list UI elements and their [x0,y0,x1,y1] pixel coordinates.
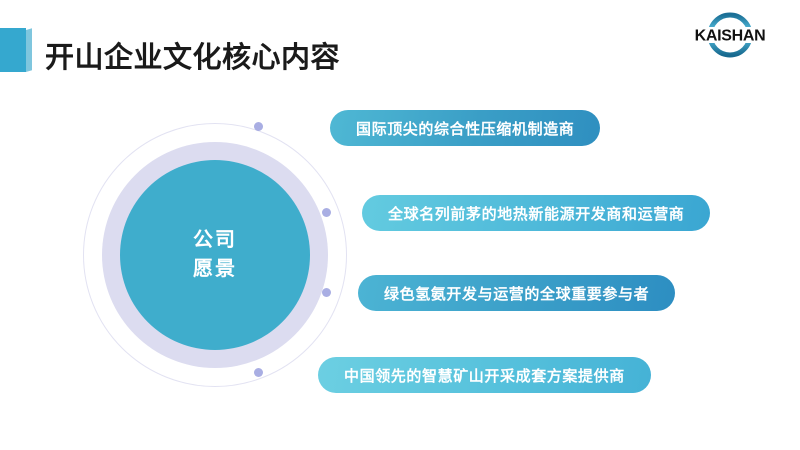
slide-canvas: 开山企业文化核心内容 KAISHAN 公司 愿景 [0,0,800,450]
vision-core-circle: 公司 愿景 [120,160,310,350]
vision-pill-2[interactable]: 全球名列前茅的地热新能源开发商和运营商 [362,195,710,231]
page-title: 开山企业文化核心内容 [45,34,340,76]
kaishan-wordmark: KAISHAN [695,28,766,45]
vision-label-line-2: 愿景 [193,255,237,284]
vision-pill-1[interactable]: 国际顶尖的综合性压缩机制造商 [330,110,600,146]
vision-pill-3[interactable]: 绿色氢氨开发与运营的全球重要参与者 [358,275,675,311]
bookmark-marker-icon [0,28,26,72]
connector-dot-3 [322,288,331,297]
kaishan-logo: KAISHAN [678,8,782,66]
connector-dot-4 [254,368,263,377]
vision-label-line-1: 公司 [193,226,237,255]
kaishan-logo-mark: KAISHAN [678,8,782,66]
vision-circle-group: 公司 愿景 [83,123,349,389]
connector-dot-1 [254,122,263,131]
vision-pill-4[interactable]: 中国领先的智慧矿山开采成套方案提供商 [318,357,651,393]
connector-dot-2 [322,208,331,217]
